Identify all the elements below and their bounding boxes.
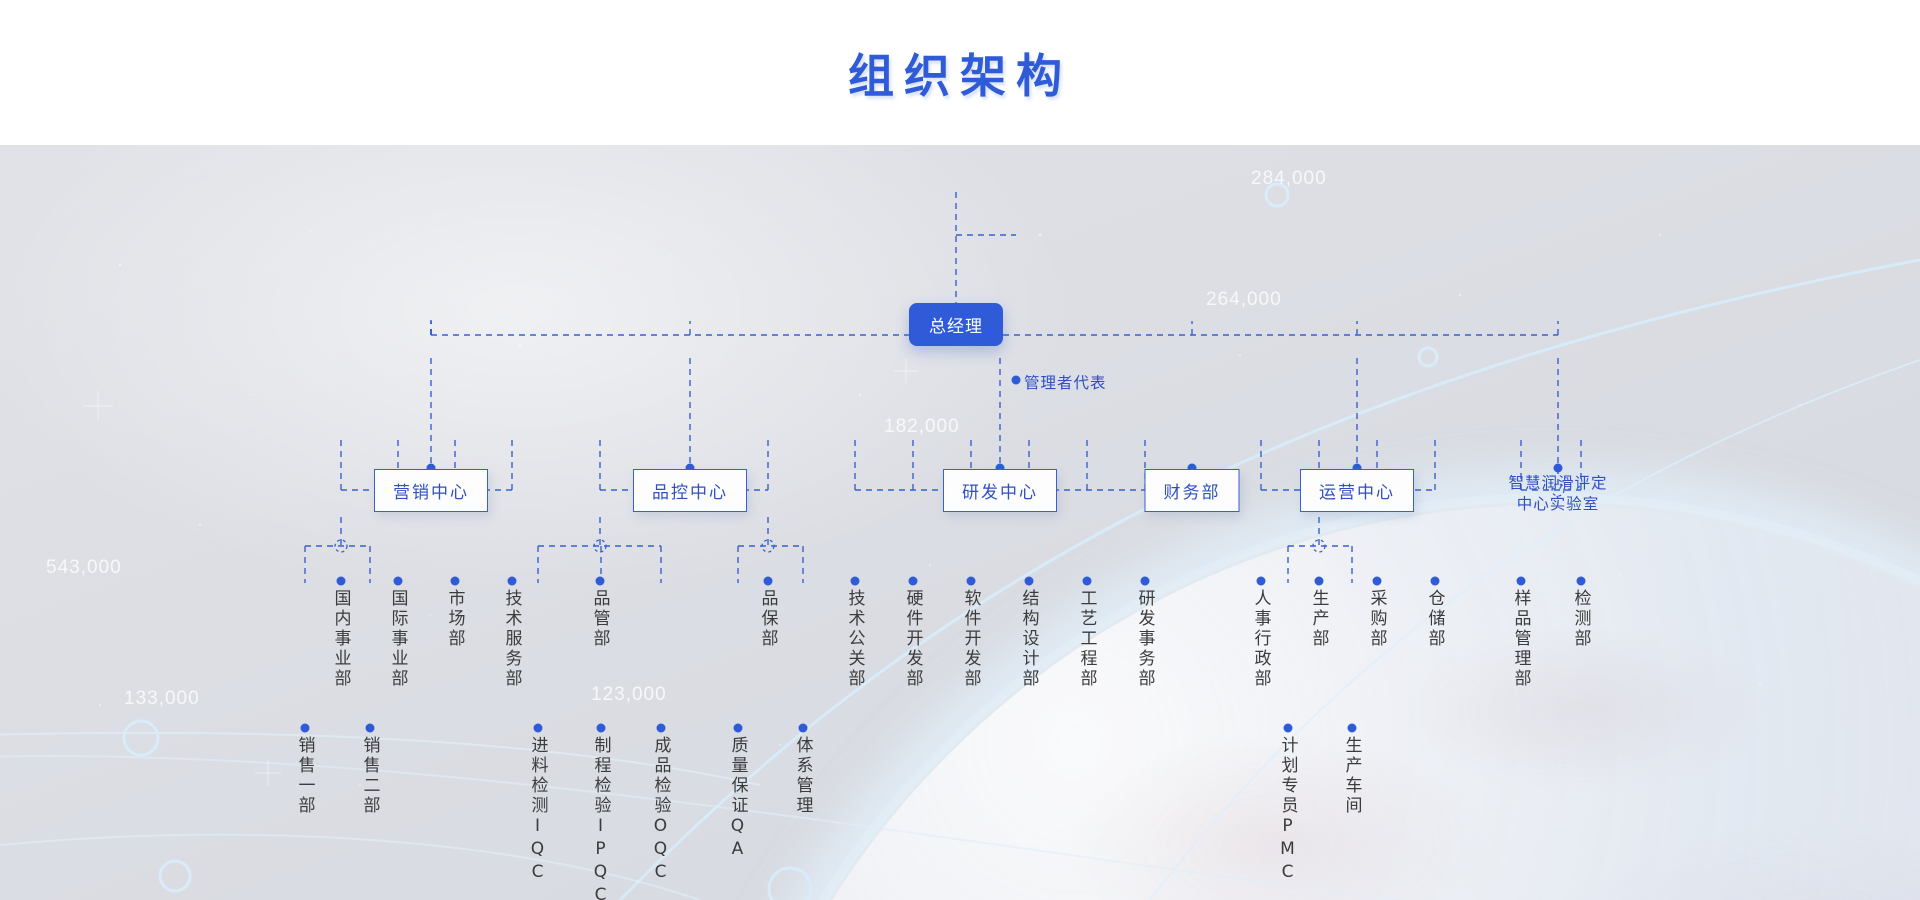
node-process-engineering-dept[interactable]: 工艺工程部 [1075,589,1100,689]
junction-markers [335,329,1564,552]
node-dot-purchasing [1373,577,1382,586]
node-dot-rd-affairs [1141,577,1150,586]
node-dot-hr-admin [1257,577,1266,586]
node-technical-service-dept[interactable]: 技术服务部 [500,589,525,689]
node-dot-hardware-development [909,577,918,586]
node-rd-affairs-dept[interactable]: 研发事务部 [1133,589,1158,689]
node-dot-workshop [1348,724,1357,733]
node-dot-process-engineering [1083,577,1092,586]
node-market-dept[interactable]: 市场部 [443,589,468,649]
node-product-management-dept[interactable]: 品管部 [588,589,613,649]
node-structural-design-dept[interactable]: 结构设计部 [1017,589,1042,689]
node-production-dept[interactable]: 生产部 [1307,589,1332,649]
org-chart-page: 组织架构 [0,0,1920,900]
node-dot-product-management [596,577,605,586]
node-domestic-business-dept[interactable]: 国内事业部 [329,589,354,689]
node-warehouse-dept[interactable]: 仓储部 [1423,589,1448,649]
page-header: 组织架构 [0,0,1920,145]
node-dot-system-management [799,724,808,733]
lab-label-line2: 中心实验室 [1508,494,1607,515]
node-dot-market-dept [451,577,460,586]
node-general-manager[interactable]: 总经理 [909,303,1003,346]
node-dot-lab [1554,464,1563,473]
node-international-business-dept[interactable]: 国际事业部 [386,589,411,689]
node-dot-domestic-business [337,577,346,586]
node-quality-control-center[interactable]: 品控中心 [633,469,747,512]
node-dot-pmc [1284,724,1293,733]
node-technical-pr-dept[interactable]: 技术公关部 [843,589,868,689]
node-dot-oqc [657,724,666,733]
node-marketing-center[interactable]: 营销中心 [374,469,488,512]
node-finance-department[interactable]: 财务部 [1145,469,1240,512]
node-dot-technical-pr [851,577,860,586]
page-title: 组织架构 [848,40,1072,106]
node-dot-iqc [534,724,543,733]
chart-stage: 284,000 264,000 182,000 543,000 133,000 … [0,145,1920,900]
node-dot-sales-two [366,724,375,733]
node-dot-testing [1577,577,1586,586]
node-dot-product-assurance [764,577,773,586]
node-outgoing-quality-control[interactable]: 成品检验OQC [649,736,674,885]
node-smart-lubrication-lab[interactable]: 智慧润滑评定 中心实验室 [1508,473,1607,515]
node-product-assurance-dept[interactable]: 品保部 [756,589,781,649]
node-incoming-quality-control[interactable]: 进料检测IQC [526,736,551,885]
node-planning-specialist-pmc[interactable]: 计划专员PMC [1276,736,1301,885]
node-dot-international-business [394,577,403,586]
connector-lines [0,145,1920,900]
node-dot-sample-management [1517,577,1526,586]
node-dot-manager-rep [1012,376,1021,385]
node-operations-center[interactable]: 运营中心 [1300,469,1414,512]
node-rd-center[interactable]: 研发中心 [943,469,1057,512]
node-testing-dept[interactable]: 检测部 [1569,589,1594,649]
node-dot-technical-service [508,577,517,586]
node-quality-assurance[interactable]: 质量保证QA [726,736,751,862]
node-dot-sales-one [301,724,310,733]
lab-label-line1: 智慧润滑评定 [1508,473,1607,494]
node-sales-department-one[interactable]: 销售一部 [293,736,318,816]
node-system-management[interactable]: 体系管理 [791,736,816,816]
node-purchasing-dept[interactable]: 采购部 [1365,589,1390,649]
node-dot-warehouse [1431,577,1440,586]
node-dot-ipqc [597,724,606,733]
node-sales-department-two[interactable]: 销售二部 [358,736,383,816]
node-software-development-dept[interactable]: 软件开发部 [959,589,984,689]
node-in-process-quality-control[interactable]: 制程检验IPQC [589,736,614,900]
node-dot-production [1315,577,1324,586]
node-sample-management-dept[interactable]: 样品管理部 [1509,589,1534,689]
node-hardware-development-dept[interactable]: 硬件开发部 [901,589,926,689]
node-manager-representative[interactable]: 管理者代表 [1024,371,1107,393]
node-hr-admin-dept[interactable]: 人事行政部 [1249,589,1274,689]
node-dot-software-development [967,577,976,586]
node-production-workshop[interactable]: 生产车间 [1340,736,1365,816]
node-dot-structural-design [1025,577,1034,586]
node-dot-qa [734,724,743,733]
org-chart: 总经理 管理者代表 营销中心 品控中心 研发中心 财务部 运营中心 智慧润滑评定… [0,145,1920,900]
